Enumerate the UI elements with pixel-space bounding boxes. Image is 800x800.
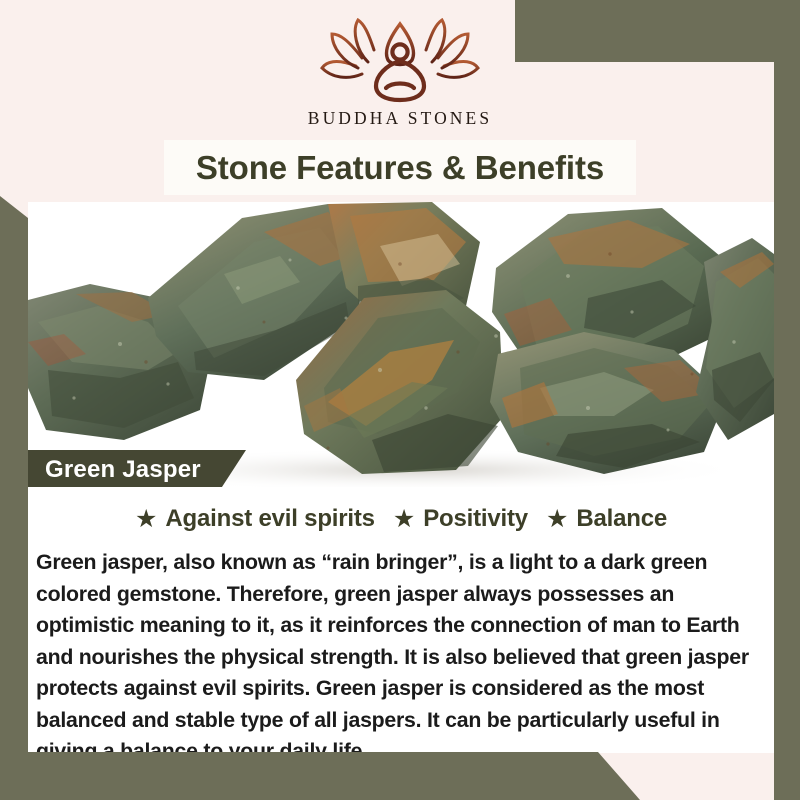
feature-item: ★ Positivity	[393, 505, 528, 533]
stone-photo	[28, 202, 774, 487]
lotus-meditating-figure-logo-icon	[318, 18, 482, 104]
brand-logo: BUDDHA STONES	[0, 18, 800, 129]
feature-item: ★ Against evil spirits	[135, 505, 375, 533]
feature-item: ★ Balance	[546, 505, 667, 533]
infographic-page: BUDDHA STONES Stone Features & Benefits	[0, 0, 800, 800]
stone-name-label: Green Jasper	[28, 450, 246, 490]
content-sheet: ★ Against evil spirits ★ Positivity ★ Ba…	[28, 487, 774, 753]
page-title: Stone Features & Benefits	[196, 149, 604, 187]
feature-list: ★ Against evil spirits ★ Positivity ★ Ba…	[28, 505, 774, 533]
feature-label: Positivity	[423, 505, 528, 533]
green-jasper-stones-image	[28, 202, 774, 487]
brand-name: BUDDHA STONES	[308, 108, 492, 129]
star-icon: ★	[393, 507, 415, 532]
feature-label: Against evil spirits	[165, 505, 374, 533]
feature-label: Balance	[576, 505, 667, 533]
star-icon: ★	[546, 507, 568, 532]
title-banner: Stone Features & Benefits	[164, 140, 636, 195]
frame-left-band	[0, 196, 28, 800]
stone-name-text: Green Jasper	[28, 456, 201, 484]
star-icon: ★	[135, 507, 157, 532]
stone-description: Green jasper, also known as “rain bringe…	[36, 547, 768, 768]
